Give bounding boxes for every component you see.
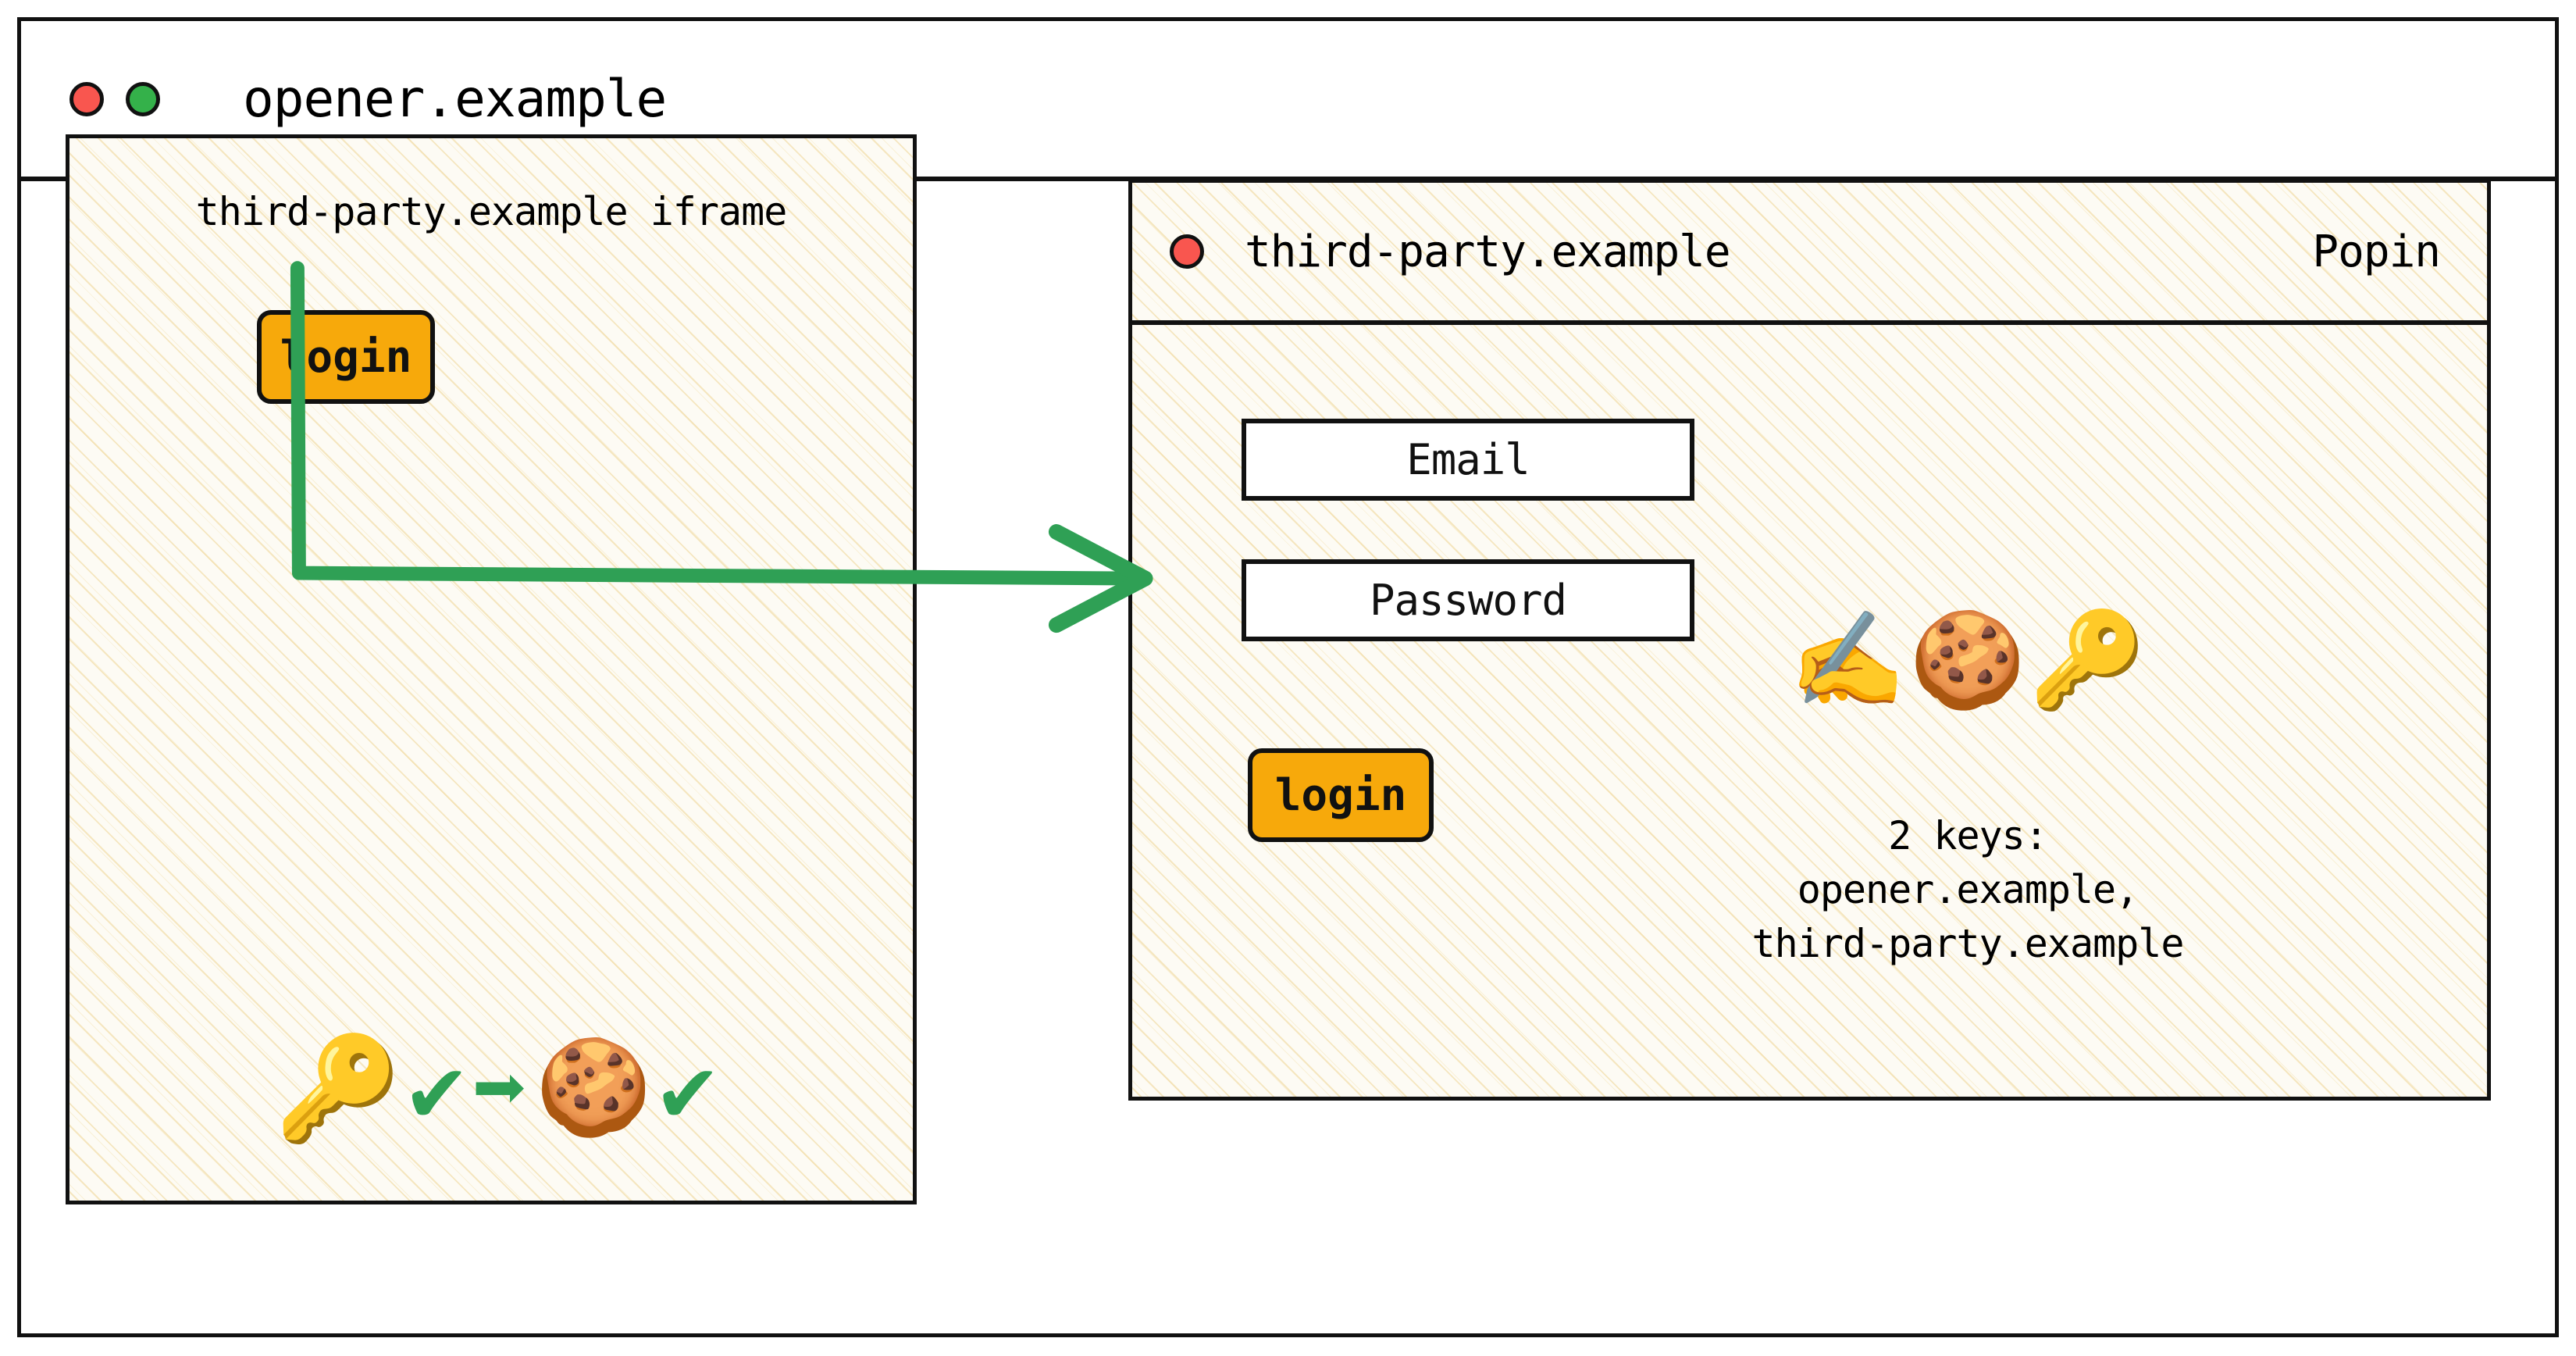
key-check-icon: ✔ [409, 1042, 465, 1134]
popin-header: third-party.example Popin [1132, 183, 2487, 325]
key-icon: 🔑 [2029, 614, 2146, 708]
keys-note: 2 keys: opener.example, third-party.exam… [1648, 809, 2288, 971]
page-canvas: third-party.example iframe login 🔑 ✔ ➡ 🍪… [21, 181, 2555, 1333]
popin-kind-label: Popin [2312, 227, 2440, 277]
browser-window: opener.example third-party.example ifram… [17, 17, 2559, 1337]
popin-window: third-party.example Popin Email Password… [1128, 179, 2491, 1101]
popin-login-button[interactable]: login [1248, 748, 1434, 842]
close-button-dot[interactable] [69, 82, 104, 116]
iframe-login-button[interactable]: login [257, 310, 435, 404]
popin-close-dot[interactable] [1170, 234, 1204, 269]
maximize-button-dot[interactable] [126, 82, 160, 116]
third-party-iframe-panel: third-party.example iframe login 🔑 ✔ ➡ 🍪… [66, 134, 917, 1204]
email-field[interactable]: Email [1242, 419, 1694, 501]
iframe-token-row: 🔑 ✔ ➡ 🍪 ✔ [93, 1010, 897, 1166]
key-icon: 🔑 [275, 1037, 401, 1139]
popin-credential-emoji-row: ✍️ 🍪 🔑 [1679, 614, 2257, 708]
popin-body: Email Password login ✍️ 🍪 🔑 2 keys: open… [1132, 325, 2487, 1097]
iframe-title: third-party.example iframe [69, 189, 913, 234]
writing-hand-icon: ✍️ [1790, 614, 1906, 708]
arrow-right-icon: ➡ [472, 1042, 528, 1134]
cookie-icon: 🍪 [536, 1041, 652, 1135]
cookie-icon: 🍪 [1909, 614, 2026, 708]
popin-title: third-party.example [1245, 227, 1730, 277]
password-field[interactable]: Password [1242, 559, 1694, 641]
cookie-check-icon: ✔ [660, 1042, 715, 1134]
window-title: opener.example [243, 73, 666, 125]
